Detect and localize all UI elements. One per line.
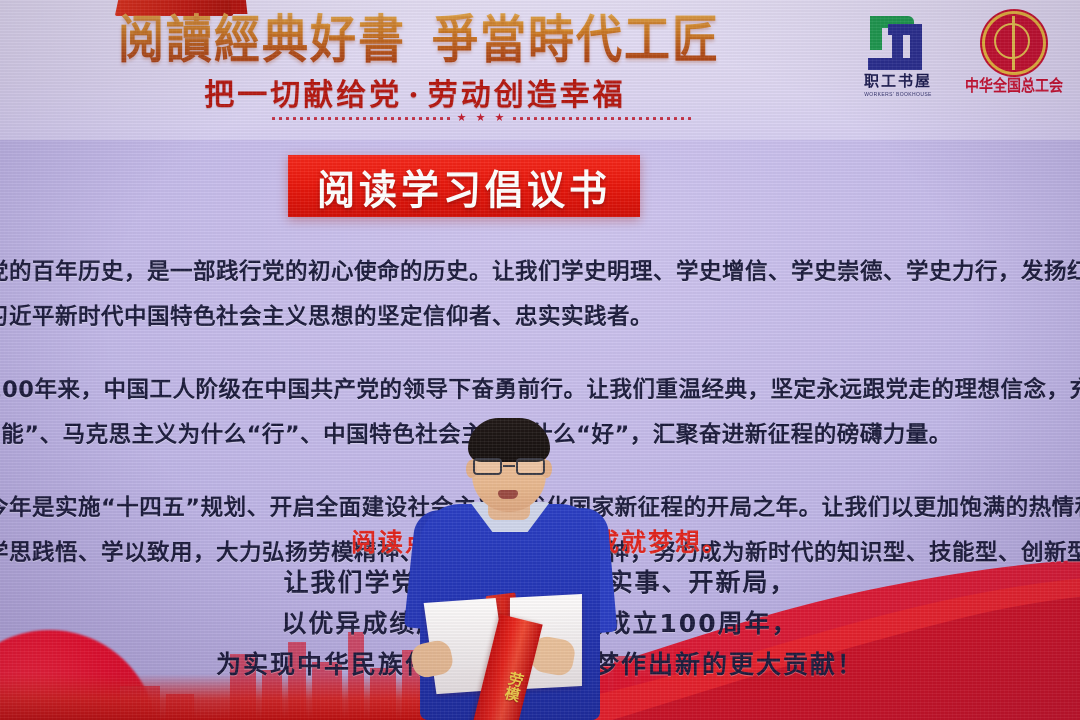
presenter-hair [468,418,550,462]
acftu-emblem-icon [985,14,1043,72]
zhigong-shuwu-label-cn: 职工书屋 [842,74,954,90]
presenter-mouth [498,490,518,499]
decorative-dotted-divider: ★ ★ ★ [272,113,692,123]
subtitle-part-a: 把一切献给党 [204,78,402,113]
glasses-bridge [503,465,515,467]
acftu-label-cn: 中华全国总工会 [958,74,1070,97]
headline-left-text: 阅讀經典好書 [118,9,406,69]
event-headline: 阅讀經典好書爭當時代工匠 [118,6,818,75]
presentation-stage-screenshot: 阅讀經典好書爭當時代工匠 把一切献给党·劳动创造幸福 ★ ★ ★ 职工书屋 WO… [0,0,1080,720]
subtitle-part-b: 劳动创造幸福 [428,78,626,113]
subtitle-separator-dot: · [408,78,421,113]
paragraph-1-line-2: 习近平新时代中国特色社会主义思想的坚定信仰者、忠实实践者。 [0,295,1080,340]
logo-acftu: 中华全国总工会 [958,12,1070,95]
document-title-text: 阅读学习倡议书 [317,157,611,215]
divider-stars: ★ ★ ★ [451,113,514,123]
document-title-plate: 阅读学习倡议书 [288,155,640,217]
presenter-figure: 劳模 [404,418,616,720]
zhigong-shuwu-icon [866,16,930,70]
paragraph-1: 党的百年历史，是一部践行党的初心使命的历史。让我们学史明理、学史增信、学史崇德、… [0,250,1080,340]
glasses-lens-right [516,458,545,475]
logo-zhigong-shuwu: 职工书屋 WORKERS' BOOKHOUSE [842,12,954,98]
paragraph-2-line-1: 100年来，中国工人阶级在中国共产党的领导下奋勇前行。让我们重温经典，坚定永远跟… [0,377,1080,403]
zhigong-shuwu-label-en: WORKERS' BOOKHOUSE [842,92,954,98]
presenter-glasses-icon [472,458,546,475]
headline-right-text: 爭當時代工匠 [432,9,720,69]
glasses-lens-left [473,458,502,475]
divider-right-dots [513,117,692,120]
paragraph-1-line-1: 党的百年历史，是一部践行党的初心使命的历史。让我们学史明理、学史增信、学史崇德、… [0,259,1080,285]
divider-left-dots [272,117,451,120]
